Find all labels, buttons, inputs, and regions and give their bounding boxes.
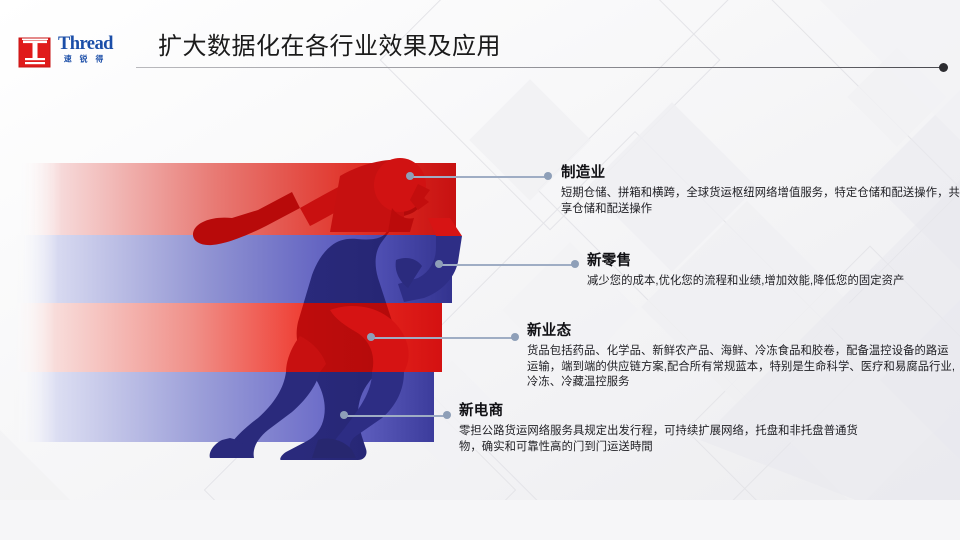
connector-start-dot-4-icon xyxy=(340,411,348,419)
connector-start-dot-2-icon xyxy=(435,260,443,268)
info-block-title: 新电商 xyxy=(459,402,859,420)
connector-end-dot-3-icon xyxy=(511,333,519,341)
info-block-new-retail: 新零售 减少您的成本,优化您的流程和业绩,增加效能,降低您的固定资产 xyxy=(587,252,904,290)
connector-line-1 xyxy=(410,176,547,178)
info-block-new-ecommerce: 新电商 零担公路货运网络服务具规定出发行程，可持续扩展网络，托盘和非托盘普通货物… xyxy=(459,402,859,455)
page-title: 扩大数据化在各行业效果及应用 xyxy=(158,32,501,62)
info-block-manufacturing: 制造业 短期仓储、拼箱和横跨，全球货运枢纽网络增值服务，特定仓储和配送操作，共享… xyxy=(561,164,960,217)
info-block-body: 货品包括药品、化学品、新鲜农产品、海鲜、冷冻食品和胶卷，配备温控设备的路运运输，… xyxy=(527,344,957,391)
connector-line-2 xyxy=(440,264,575,266)
connector-end-dot-1-icon xyxy=(544,172,552,180)
brand-name-cn-text: 速 锐 得 xyxy=(64,54,106,64)
connector-start-dot-1-icon xyxy=(406,172,414,180)
info-block-title: 新业态 xyxy=(527,322,957,340)
brand-logo[interactable]: Thread 速 锐 得 xyxy=(18,32,138,70)
header-divider xyxy=(136,67,942,69)
connector-line-3 xyxy=(372,337,514,339)
thread-logo-mark-icon xyxy=(18,34,52,68)
info-block-title: 新零售 xyxy=(587,252,904,270)
slide-header: Thread 速 锐 得 扩大数据化在各行业效果及应用 xyxy=(0,0,960,92)
info-block-body: 短期仓储、拼箱和横跨，全球货运枢纽网络增值服务，特定仓储和配送操作，共享仓储和配… xyxy=(561,186,960,217)
brand-name-text: Thread xyxy=(58,33,114,54)
header-end-dot-icon xyxy=(939,63,948,72)
brand-wordmark: Thread 速 锐 得 xyxy=(58,32,140,66)
band-blue-1 xyxy=(14,235,452,303)
info-block-body: 零担公路货运网络服务具规定出发行程，可持续扩展网络，托盘和非托盘普通货物，确实和… xyxy=(459,424,859,455)
slide-canvas: Thread 速 锐 得 扩大数据化在各行业效果及应用 xyxy=(0,0,960,540)
info-block-title: 制造业 xyxy=(561,164,960,182)
info-block-body: 减少您的成本,优化您的流程和业绩,增加效能,降低您的固定资产 xyxy=(587,274,904,290)
info-block-new-format: 新业态 货品包括药品、化学品、新鲜农产品、海鲜、冷冻食品和胶卷，配备温控设备的路… xyxy=(527,322,957,391)
connector-start-dot-3-icon xyxy=(367,333,375,341)
connector-end-dot-4-icon xyxy=(443,411,451,419)
connector-end-dot-2-icon xyxy=(571,260,579,268)
running-man-svg xyxy=(0,140,500,460)
running-man-graphic xyxy=(0,140,500,460)
connector-line-4 xyxy=(345,415,446,417)
